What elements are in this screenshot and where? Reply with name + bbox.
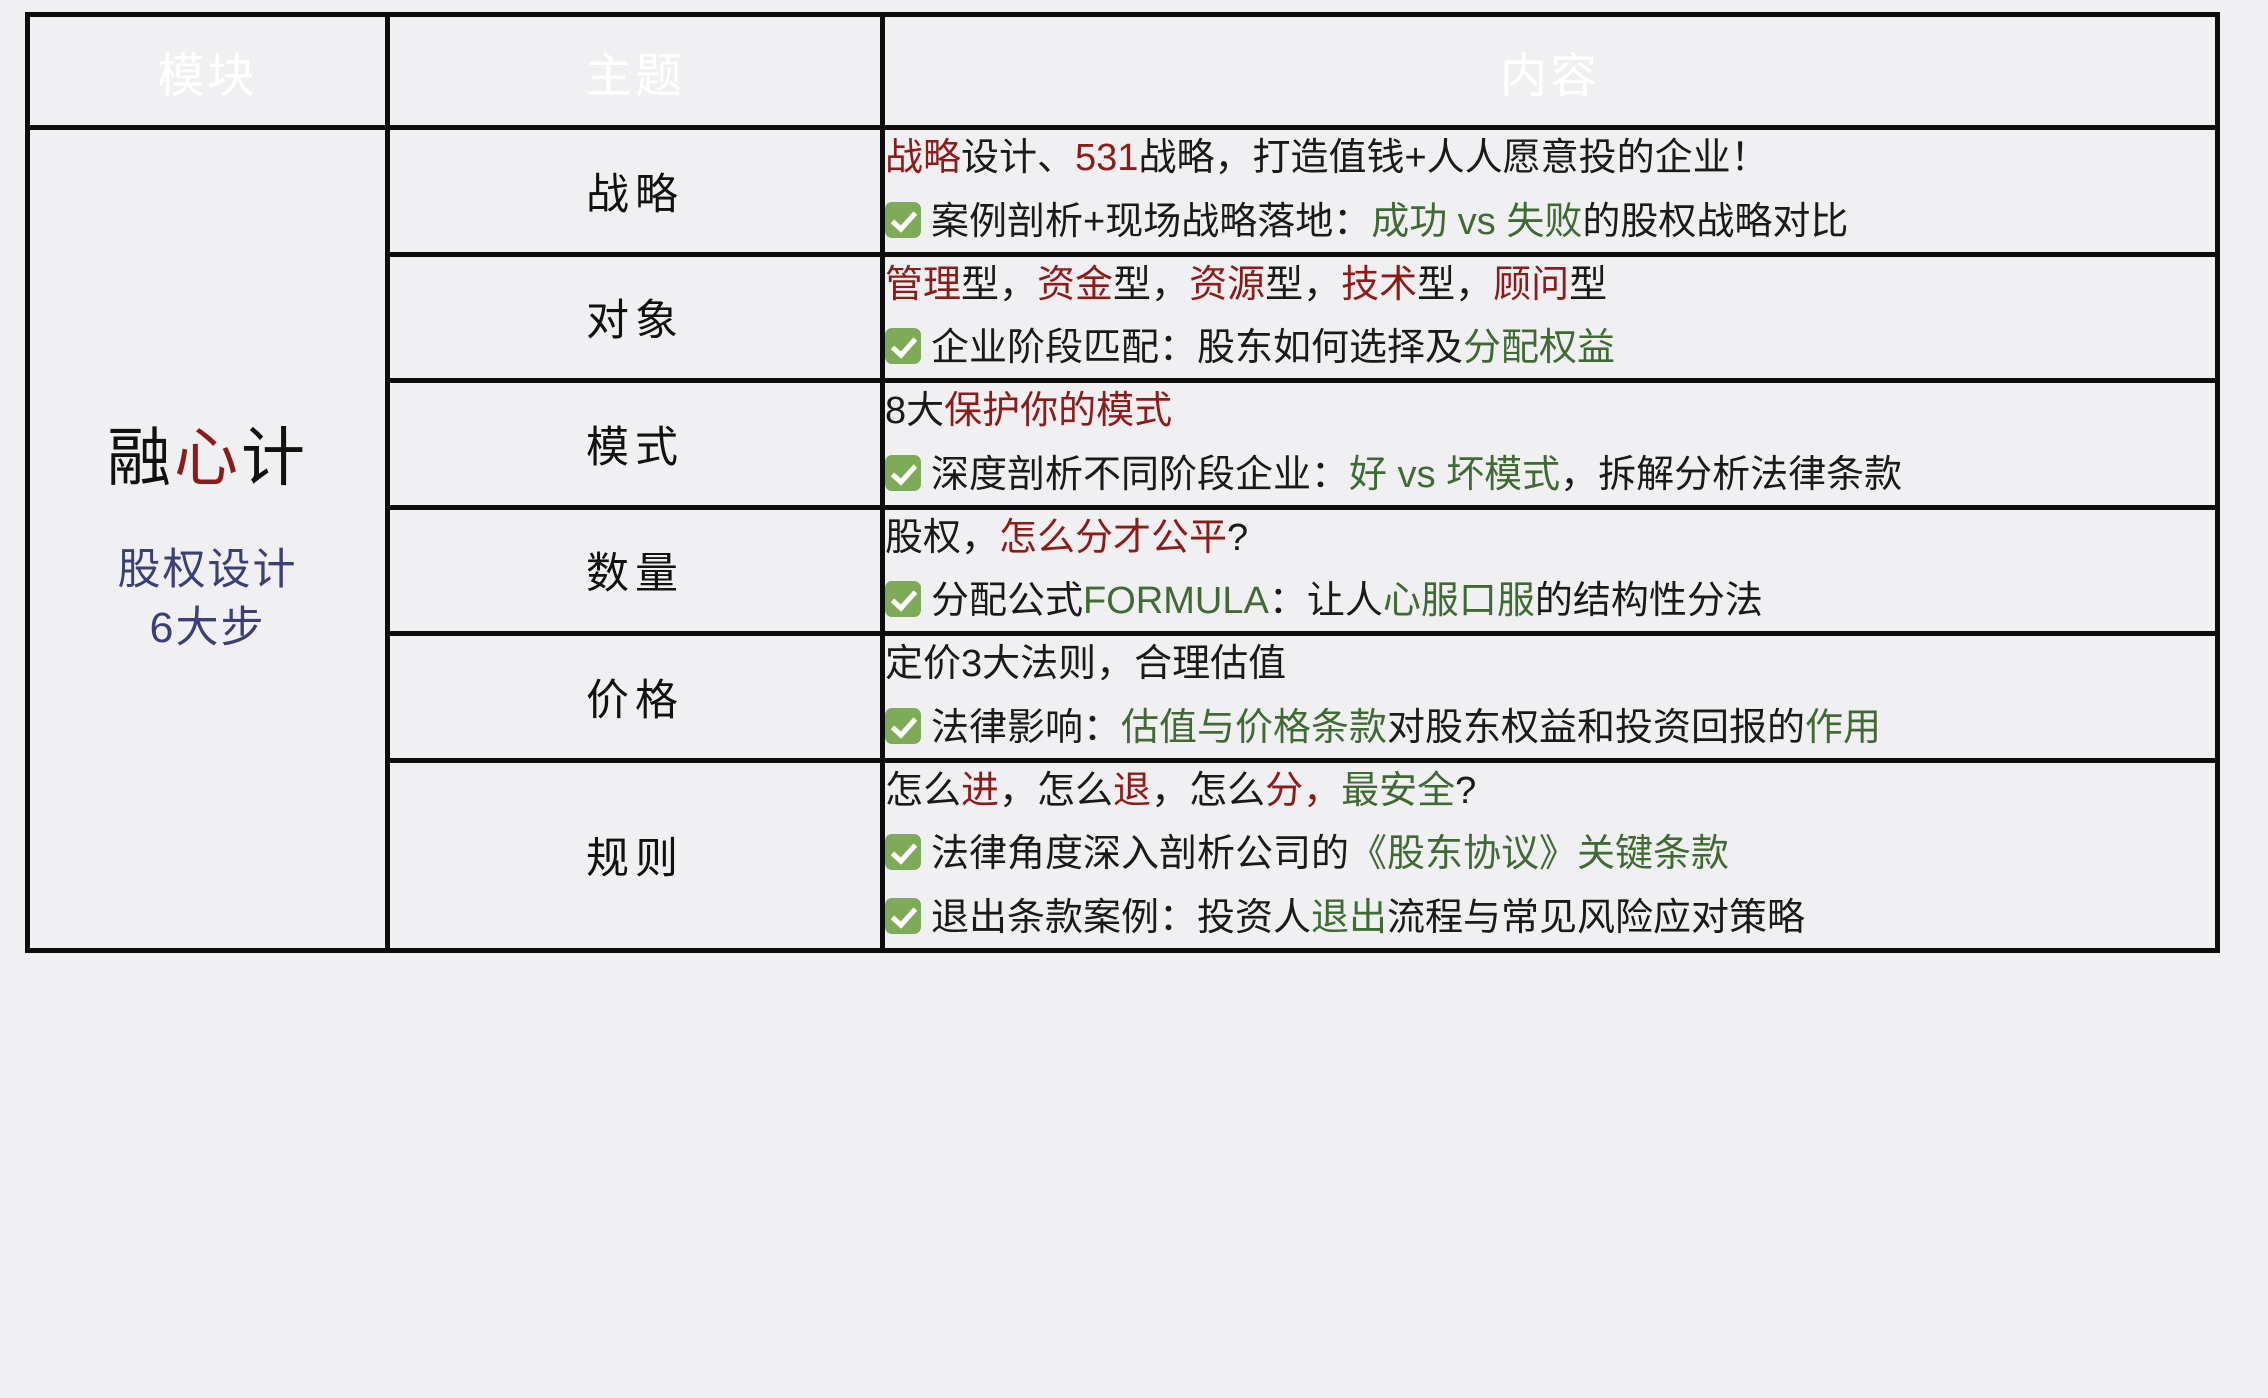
module-brand-prefix: 融 [107,422,174,494]
content-text-segment: 定价3大法则，合理估值 [885,643,1286,685]
content-line: 股权，怎么分才公平? [885,510,2215,568]
content-text-segment: 法律影响： [931,707,1121,749]
content-text-segment: 心服口服 [1383,580,1535,622]
header-row: 模块 主题 内容 [28,15,2218,128]
module-subtitle-line-2: 6大步 [30,600,385,658]
check-mark-icon [885,834,921,870]
content-text-segment: ，怎么 [1151,770,1265,812]
content-line: 分配公式FORMULA：让人心服口服的结构性分法 [885,573,2215,631]
column-header-topic: 主题 [388,15,883,128]
module-subtitle-line-1: 股权设计 [30,542,385,600]
content-cell: 股权，怎么分才公平?分配公式FORMULA：让人心服口服的结构性分法 [883,507,2218,634]
content-text-segment: 案例剖析+现场战略落地： [931,201,1371,243]
content-text-segment: 成功 vs 失败 [1371,201,1582,243]
content-text-segment: 战略 [885,137,961,179]
content-text-segment: ? [1455,770,1476,812]
content-text-segment: 531 [1075,137,1138,179]
check-mark-icon [885,898,921,934]
content-line: 法律角度深入剖析公司的《股东协议》关键条款 [885,826,2215,884]
content-text-segment: 《股东协议》关键条款 [1349,833,1729,875]
content-text-segment: ，拆解分析法律条款 [1560,454,1902,496]
content-text-segment: 技术 [1341,264,1417,306]
content-text-segment: 型， [1265,264,1341,306]
content-text-segment: 型， [1113,264,1189,306]
content-text-segment: 流程与常见风险应对策略 [1387,897,1805,939]
content-text-segment: 的股权战略对比 [1582,201,1848,243]
content-text-segment: 好 vs 坏模式 [1349,454,1560,496]
column-header-content: 内容 [883,15,2218,128]
check-mark-icon [885,581,921,617]
content-text-segment: 深度剖析不同阶段企业： [931,454,1349,496]
content-text-segment: 资源 [1189,264,1265,306]
topic-cell: 数量 [388,507,883,634]
check-mark-icon [885,202,921,238]
slide-canvas: 模块 主题 内容 融心计股权设计6大步战略战略设计、531战略，打造值钱+人人愿… [0,0,2268,1398]
content-text-segment: 分配公式 [931,580,1083,622]
content-text-segment: 对股东权益和投资回报的 [1387,707,1805,749]
topic-cell: 规则 [388,760,883,950]
topic-cell: 模式 [388,381,883,508]
content-cell: 怎么进，怎么退，怎么分，最安全?法律角度深入剖析公司的《股东协议》关键条款退出条… [883,760,2218,950]
table-body: 融心计股权设计6大步战略战略设计、531战略，打造值钱+人人愿意投的企业！案例剖… [28,128,2218,951]
content-text-segment: 最安全 [1341,770,1455,812]
content-text-segment: 企业阶段匹配：股东如何选择及 [931,327,1463,369]
content-text-segment: 怎么 [885,770,961,812]
topic-cell: 战略 [388,128,883,255]
content-cell: 战略设计、531战略，打造值钱+人人愿意投的企业！案例剖析+现场战略落地：成功 … [883,128,2218,255]
topic-cell: 对象 [388,254,883,381]
check-mark-icon [885,708,921,744]
module-cell: 融心计股权设计6大步 [28,128,388,951]
course-outline-table: 模块 主题 内容 融心计股权设计6大步战略战略设计、531战略，打造值钱+人人愿… [25,12,2220,953]
content-text-segment: 退 [1113,770,1151,812]
content-cell: 定价3大法则，合理估值法律影响：估值与价格条款对股东权益和投资回报的作用 [883,634,2218,761]
content-line: 战略设计、531战略，打造值钱+人人愿意投的企业！ [885,130,2215,188]
module-brand: 融心计 [30,421,385,497]
content-text-segment: 管理 [885,264,961,306]
content-line: 退出条款案例：投资人退出流程与常见风险应对策略 [885,890,2215,948]
content-text-segment: 退出条款案例：投资人 [931,897,1311,939]
content-text-segment: 分， [1265,770,1341,812]
content-cell: 管理型，资金型，资源型，技术型，顾问型企业阶段匹配：股东如何选择及分配权益 [883,254,2218,381]
content-line: 企业阶段匹配：股东如何选择及分配权益 [885,320,2215,378]
content-text-segment: 股权， [885,517,999,559]
content-text-segment: 作用 [1805,707,1881,749]
table-header: 模块 主题 内容 [28,15,2218,128]
content-text-segment: 退出 [1311,897,1387,939]
column-header-module: 模块 [28,15,388,128]
content-line: 法律影响：估值与价格条款对股东权益和投资回报的作用 [885,700,2215,758]
content-cell: 8大保护你的模式深度剖析不同阶段企业：好 vs 坏模式，拆解分析法律条款 [883,381,2218,508]
content-text-segment: 型， [1417,264,1493,306]
content-text-segment: 型， [961,264,1037,306]
content-text-segment: 顾问 [1493,264,1569,306]
content-text-segment: 进 [961,770,999,812]
check-mark-icon [885,328,921,364]
content-text-segment: 型 [1569,264,1607,306]
content-line: 管理型，资金型，资源型，技术型，顾问型 [885,257,2215,315]
module-subtitle: 股权设计6大步 [30,542,385,657]
content-text-segment: 怎么分才公平 [999,517,1227,559]
table-row: 融心计股权设计6大步战略战略设计、531战略，打造值钱+人人愿意投的企业！案例剖… [28,128,2218,255]
content-line: 定价3大法则，合理估值 [885,636,2215,694]
module-brand-suffix: 计 [241,422,308,494]
content-line: 案例剖析+现场战略落地：成功 vs 失败的股权战略对比 [885,194,2215,252]
content-line: 怎么进，怎么退，怎么分，最安全? [885,763,2215,821]
content-line: 8大保护你的模式 [885,383,2215,441]
content-text-segment: 8大 [885,390,944,432]
content-text-segment: 的结构性分法 [1535,580,1763,622]
content-text-segment: 设计、 [961,137,1075,179]
content-text-segment: 法律角度深入剖析公司的 [931,833,1349,875]
content-text-segment: 战略，打造值钱+人人愿意投的企业！ [1138,137,1768,179]
content-text-segment: 分配权益 [1463,327,1615,369]
content-text-segment: 保护你的模式 [944,390,1172,432]
content-line: 深度剖析不同阶段企业：好 vs 坏模式，拆解分析法律条款 [885,447,2215,505]
content-text-segment: ：让人 [1269,580,1383,622]
topic-cell: 价格 [388,634,883,761]
content-text-segment: ? [1227,517,1248,559]
content-text-segment: ，怎么 [999,770,1113,812]
check-mark-icon [885,455,921,491]
module-brand-accent: 心 [174,422,241,494]
content-text-segment: FORMULA [1083,580,1269,622]
content-text-segment: 资金 [1037,264,1113,306]
content-text-segment: 估值与价格条款 [1121,707,1387,749]
